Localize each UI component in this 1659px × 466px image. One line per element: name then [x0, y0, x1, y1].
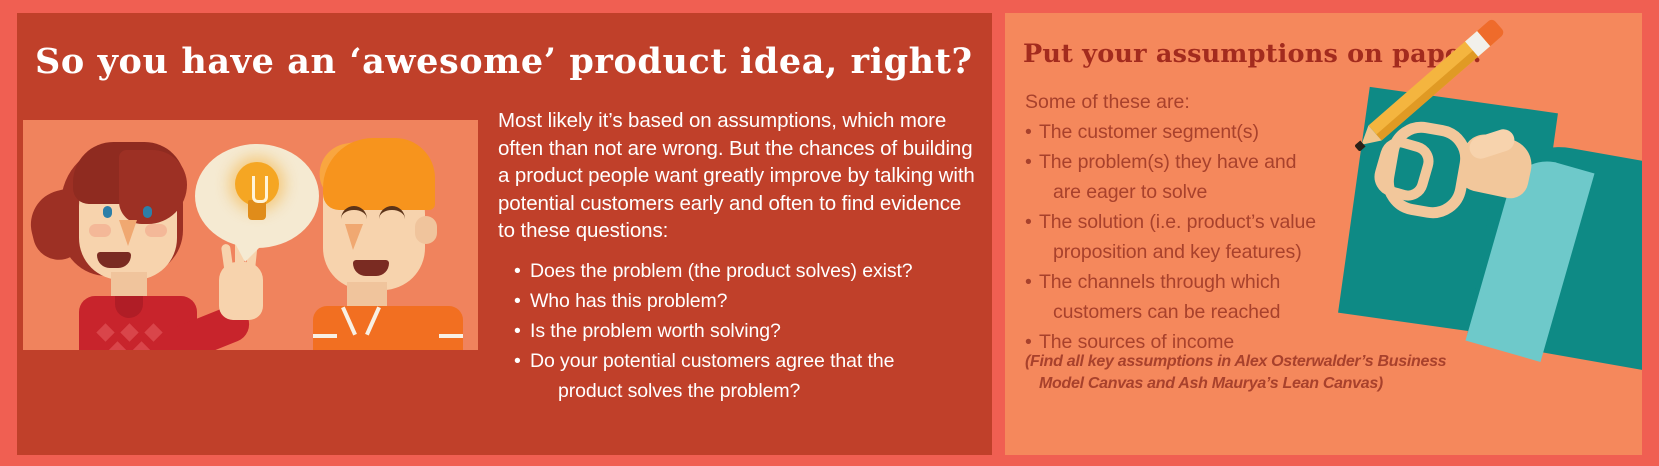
two-people-illustration: [23, 120, 478, 350]
right-panel-subtitle: Some of these are:: [1025, 89, 1190, 115]
list-item: •The problem(s) they have andare eager t…: [1025, 147, 1375, 207]
bullet-icon: •: [1025, 147, 1039, 177]
list-item: •Do your potential customers agree that …: [514, 346, 984, 406]
infographic-page: So you have an ‘awesome’ product idea, r…: [0, 0, 1659, 466]
man-sleeve-stripe-left: [313, 334, 337, 338]
source-note: (Find all key assumptions in Alex Osterw…: [1025, 351, 1495, 395]
hand-writing-illustration: [1333, 93, 1642, 345]
list-item-label: Does the problem (the product solves) ex…: [530, 260, 913, 282]
woman-left-eye: [103, 206, 112, 218]
list-item-continuation: proposition and key features): [1039, 237, 1375, 267]
list-item-label: The customer segment(s): [1039, 121, 1259, 143]
lightbulb-base: [248, 200, 266, 220]
list-item-label: The solution (i.e. product’s value: [1039, 211, 1316, 233]
woman-left-cheek: [89, 224, 111, 237]
bullet-icon: •: [514, 256, 530, 286]
right-panel: Put your assumptions on paper. Some of t…: [1005, 13, 1642, 455]
bullet-icon: •: [1025, 117, 1039, 147]
bullet-icon: •: [514, 286, 530, 316]
source-note-line1: (Find all key assumptions in Alex Osterw…: [1025, 353, 1446, 370]
woman-nose: [119, 220, 137, 246]
list-item-label: The channels through which: [1039, 271, 1280, 293]
woman-right-cheek: [145, 224, 167, 237]
bullet-icon: •: [1025, 267, 1039, 297]
woman-right-eye: [143, 206, 152, 218]
assumptions-list: •The customer segment(s) •The problem(s)…: [1025, 117, 1375, 357]
list-item-label: Who has this problem?: [530, 290, 727, 312]
man-hair: [323, 138, 435, 210]
right-panel-title: Put your assumptions on paper.: [1023, 39, 1623, 69]
man-sleeve-stripe-right: [439, 334, 463, 338]
lightbulb-filament: [252, 176, 268, 203]
list-item-label: Do your potential customers agree that t…: [530, 350, 894, 372]
list-item-label: Is the problem worth solving?: [530, 320, 781, 342]
left-panel-title: So you have an ‘awesome’ product idea, r…: [35, 41, 965, 82]
list-item: •The channels through whichcustomers can…: [1025, 267, 1375, 327]
man-nose: [345, 224, 363, 250]
source-note-line2: Model Canvas and Ash Maurya’s Lean Canva…: [1025, 373, 1495, 395]
man-mouth: [353, 260, 389, 276]
left-panel-body: Most likely it’s based on assumptions, w…: [498, 107, 976, 245]
bullet-icon: •: [514, 346, 530, 376]
list-item-continuation: customers can be reached: [1039, 297, 1375, 327]
list-item: •The customer segment(s): [1025, 117, 1375, 147]
list-item-label: The problem(s) they have and: [1039, 151, 1296, 173]
man-shirt: [313, 306, 463, 350]
list-item-continuation: are eager to solve: [1039, 177, 1375, 207]
left-panel: So you have an ‘awesome’ product idea, r…: [17, 13, 992, 455]
bullet-icon: •: [1025, 207, 1039, 237]
list-item: •The solution (i.e. product’s valuepropo…: [1025, 207, 1375, 267]
list-item: •Is the problem worth solving?: [514, 316, 984, 346]
list-item: •Does the problem (the product solves) e…: [514, 256, 984, 286]
list-item-label: The sources of income: [1039, 331, 1234, 353]
list-item: •Who has this problem?: [514, 286, 984, 316]
evidence-questions-list: •Does the problem (the product solves) e…: [514, 256, 984, 406]
bullet-icon: •: [514, 316, 530, 346]
man-ear: [415, 216, 437, 244]
list-item-continuation: product solves the problem?: [530, 376, 984, 406]
